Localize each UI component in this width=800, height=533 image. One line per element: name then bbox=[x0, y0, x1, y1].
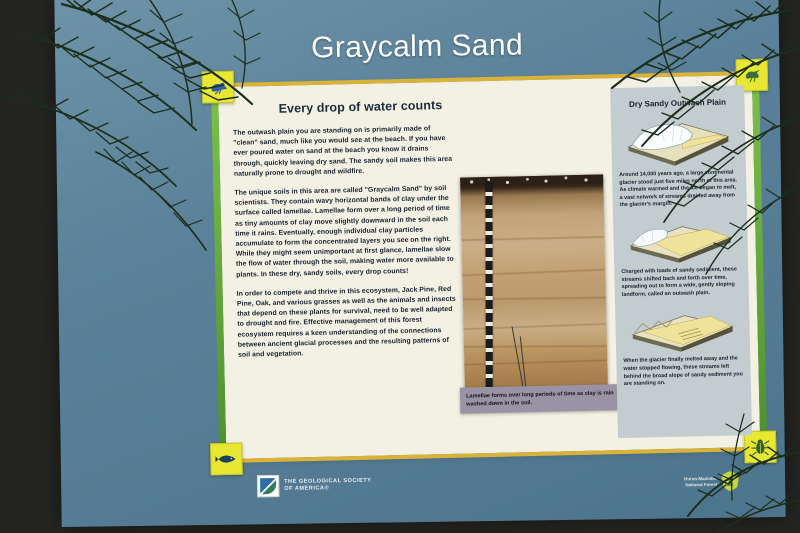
panel-bottom-border bbox=[219, 447, 767, 463]
retreating-glacier-outwash-block-diagram bbox=[620, 219, 741, 264]
side-panel-title: Dry Sandy Outwash Plain bbox=[617, 97, 737, 109]
forest-service-logo: Huron-Manistee National Forest bbox=[684, 471, 739, 493]
usfs-shield-icon bbox=[721, 471, 739, 492]
corner-tab-top-left bbox=[202, 71, 235, 104]
photo-stage: Graycalm Sand bbox=[0, 0, 800, 533]
body-paragraph-1: The outwash plain you are standing on is… bbox=[233, 124, 454, 180]
blue-jay-bird-icon bbox=[207, 79, 229, 95]
panel-left-border bbox=[211, 87, 226, 459]
panel-top-border bbox=[211, 71, 759, 87]
body-paragraph-3: In order to compete and thrive in this e… bbox=[237, 285, 459, 361]
forest-logo-line1: Huron-Manistee bbox=[684, 475, 717, 481]
insect-icon bbox=[750, 437, 770, 457]
corner-tab-bottom-left bbox=[210, 443, 243, 476]
gsa-logo-text: THE GEOLOGICAL SOCIETY OF AMERICA® bbox=[284, 478, 372, 493]
gsa-logo: THE GEOLOGICAL SOCIETY OF AMERICA® bbox=[257, 474, 372, 498]
body-paragraph-2: The unique soils in this area are called… bbox=[234, 184, 456, 281]
organic-surface-layer bbox=[460, 174, 603, 186]
fish-icon bbox=[215, 452, 237, 466]
gsa-logo-line2: OF AMERICA® bbox=[284, 485, 371, 493]
glacier-over-plain-block-diagram bbox=[618, 114, 739, 167]
side-panel: Dry Sandy Outwash Plain Around 14,000 ye… bbox=[610, 85, 752, 438]
measuring-stick bbox=[485, 183, 492, 391]
interpretive-sign-board: Graycalm Sand bbox=[54, 0, 785, 527]
soil-profile-photo bbox=[460, 174, 608, 393]
side-panel-caption-2: Charged with loads of sandy sediment, th… bbox=[621, 266, 742, 299]
gsa-logo-icon bbox=[257, 475, 279, 497]
bird-icon bbox=[741, 67, 763, 83]
corner-tab-bottom-right bbox=[744, 431, 777, 464]
forest-logo-line2: National Forest bbox=[684, 481, 717, 487]
page-title: Graycalm Sand bbox=[55, 25, 779, 69]
left-text-column: Every drop of water counts The outwash p… bbox=[232, 92, 458, 370]
outwash-plain-no-glacier-block-diagram bbox=[622, 309, 743, 354]
content-panel: Every drop of water counts The outwash p… bbox=[218, 75, 760, 459]
photo-caption: Lamellae forms over long periods of time… bbox=[460, 384, 621, 414]
section-subtitle: Every drop of water counts bbox=[268, 98, 452, 116]
panel-right-border bbox=[752, 75, 767, 447]
forest-logo-text: Huron-Manistee National Forest bbox=[684, 475, 717, 487]
side-panel-caption-1: Around 14,000 years ago, a large contine… bbox=[619, 169, 740, 210]
side-panel-caption-3: When the glacier finally melted away and… bbox=[623, 356, 744, 389]
